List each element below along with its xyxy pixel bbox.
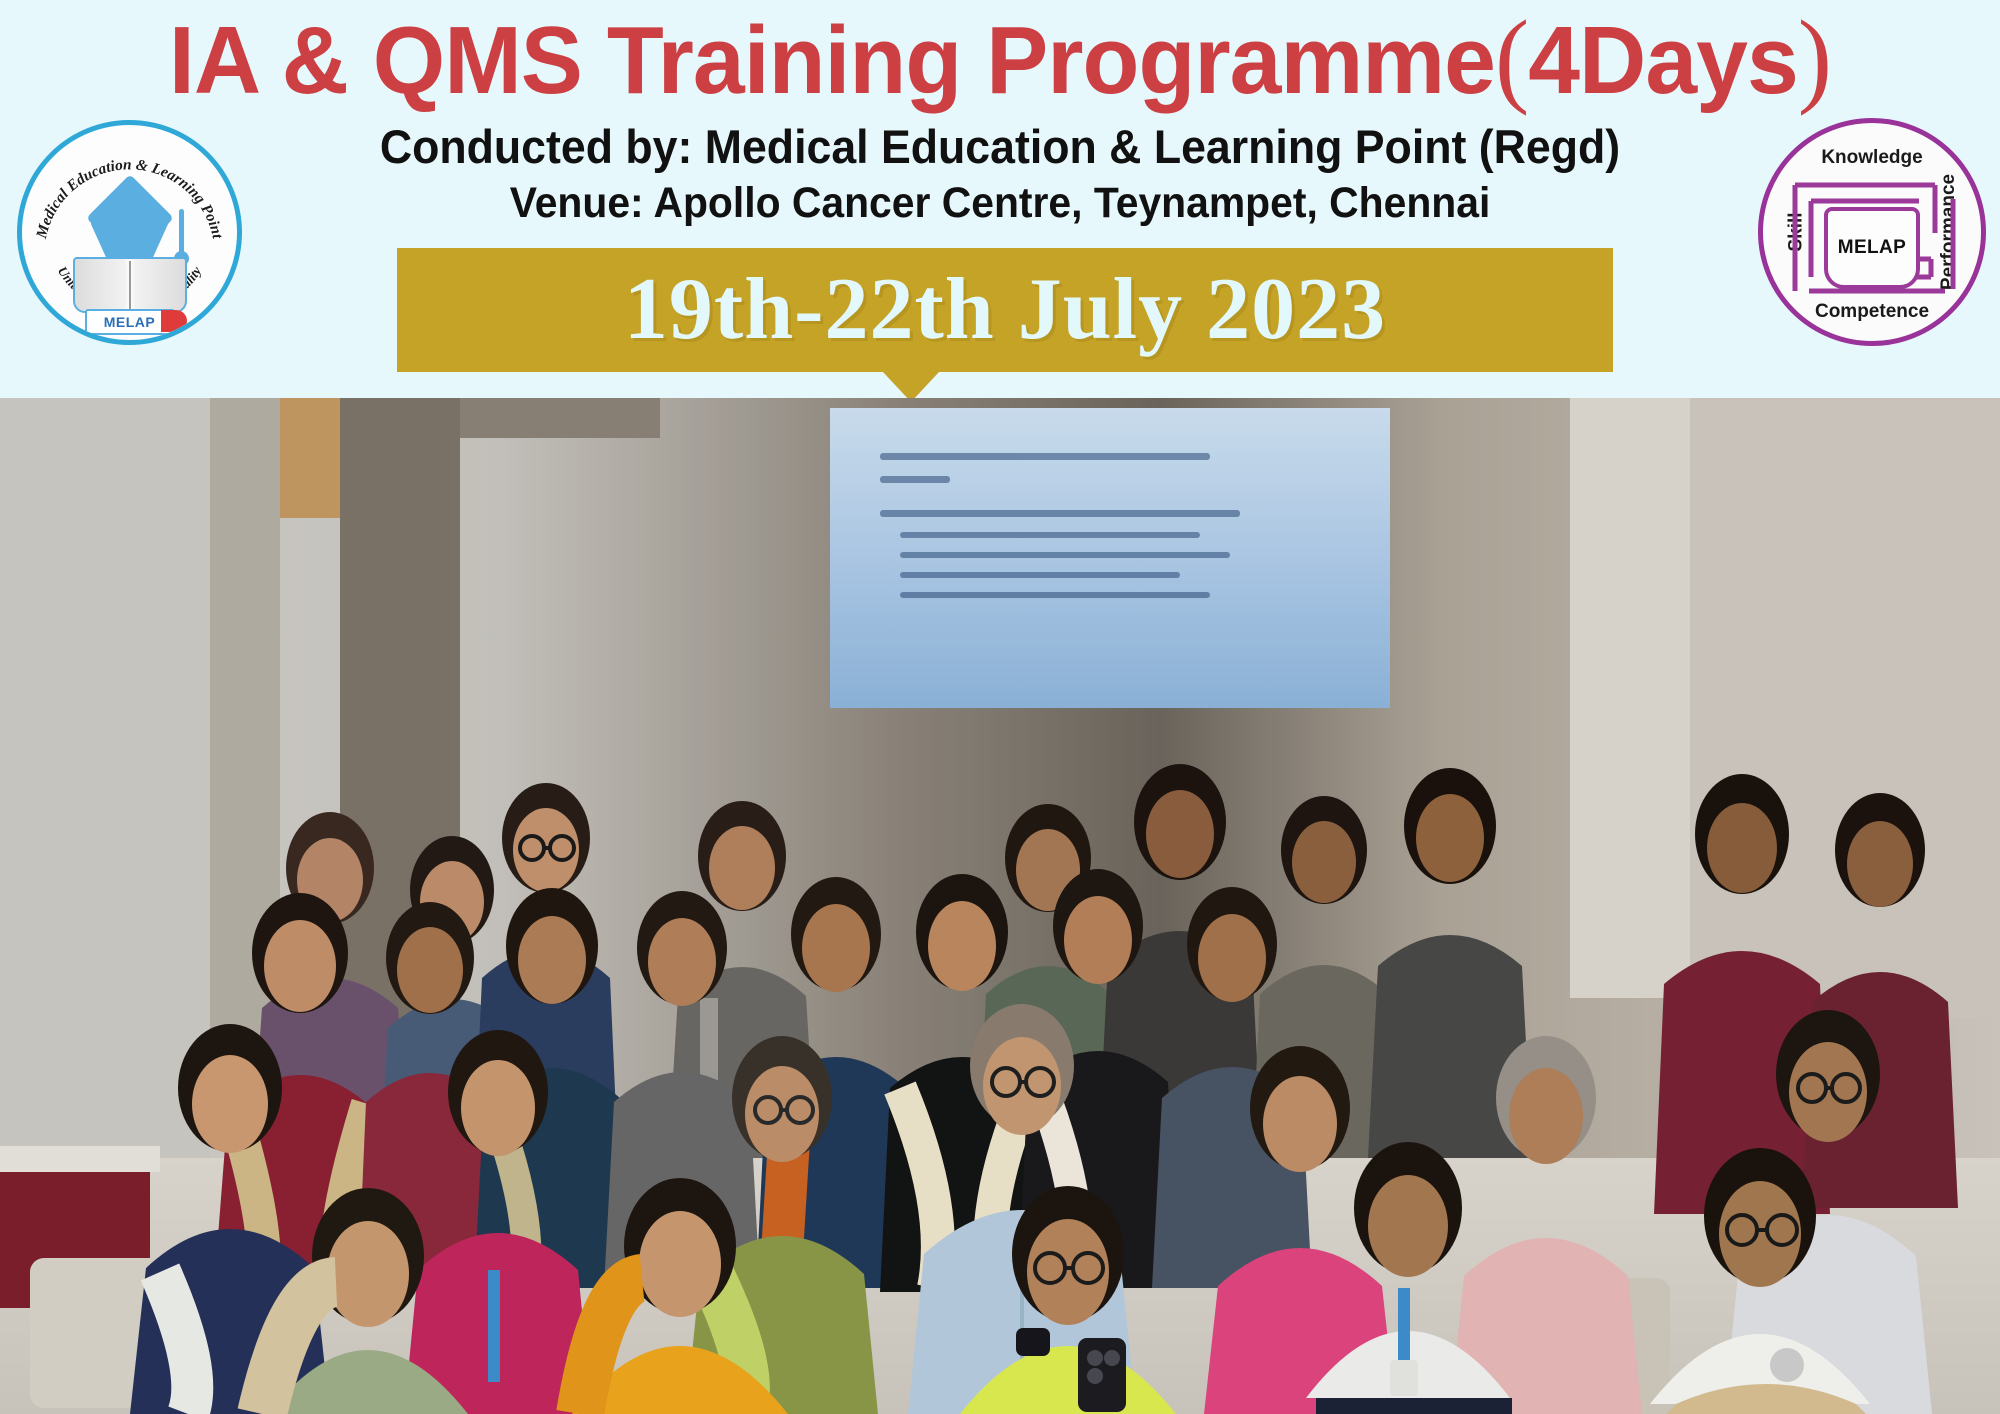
page-title: IA & QMS Training Programme(4Days) (30, 4, 1970, 115)
date-text: 19th-22th July 2023 (624, 264, 1386, 356)
melap-badge: MELAP (85, 309, 175, 335)
group-photo (0, 398, 2000, 1414)
logo-right-book-icon: MELAP (1824, 207, 1920, 289)
logo-right: Knowledge Skill Performance Competence (1758, 118, 1986, 346)
graduation-tassel-icon (179, 209, 184, 255)
title-paren-close: ) (1798, 0, 1831, 116)
open-book-icon (73, 257, 187, 313)
melap-badge-label: MELAP (104, 314, 156, 330)
title-paren-open: ( (1495, 0, 1528, 116)
poster-header: IA & QMS Training Programme(4Days) Condu… (0, 0, 2000, 398)
venue-line: Venue: Apollo Cancer Centre, Teynampet, … (50, 178, 1950, 228)
conducted-by-line: Conducted by: Medical Education & Learni… (50, 120, 1950, 174)
logo-right-knowledge-label: Knowledge (1821, 147, 1922, 169)
poster-root: IA & QMS Training Programme(4Days) Condu… (0, 0, 2000, 1414)
title-main: IA & QMS Training Programme (169, 7, 1495, 114)
logo-right-competence-label: Competence (1815, 301, 1929, 323)
title-suffix: 4Days (1528, 7, 1798, 114)
logo-left: Medical Education & Learning Point Uniti… (17, 120, 242, 345)
group-photo-illustration (0, 398, 2000, 1414)
logo-right-center-label: MELAP (1838, 237, 1907, 259)
date-banner: 19th-22th July 2023 (397, 248, 1613, 372)
